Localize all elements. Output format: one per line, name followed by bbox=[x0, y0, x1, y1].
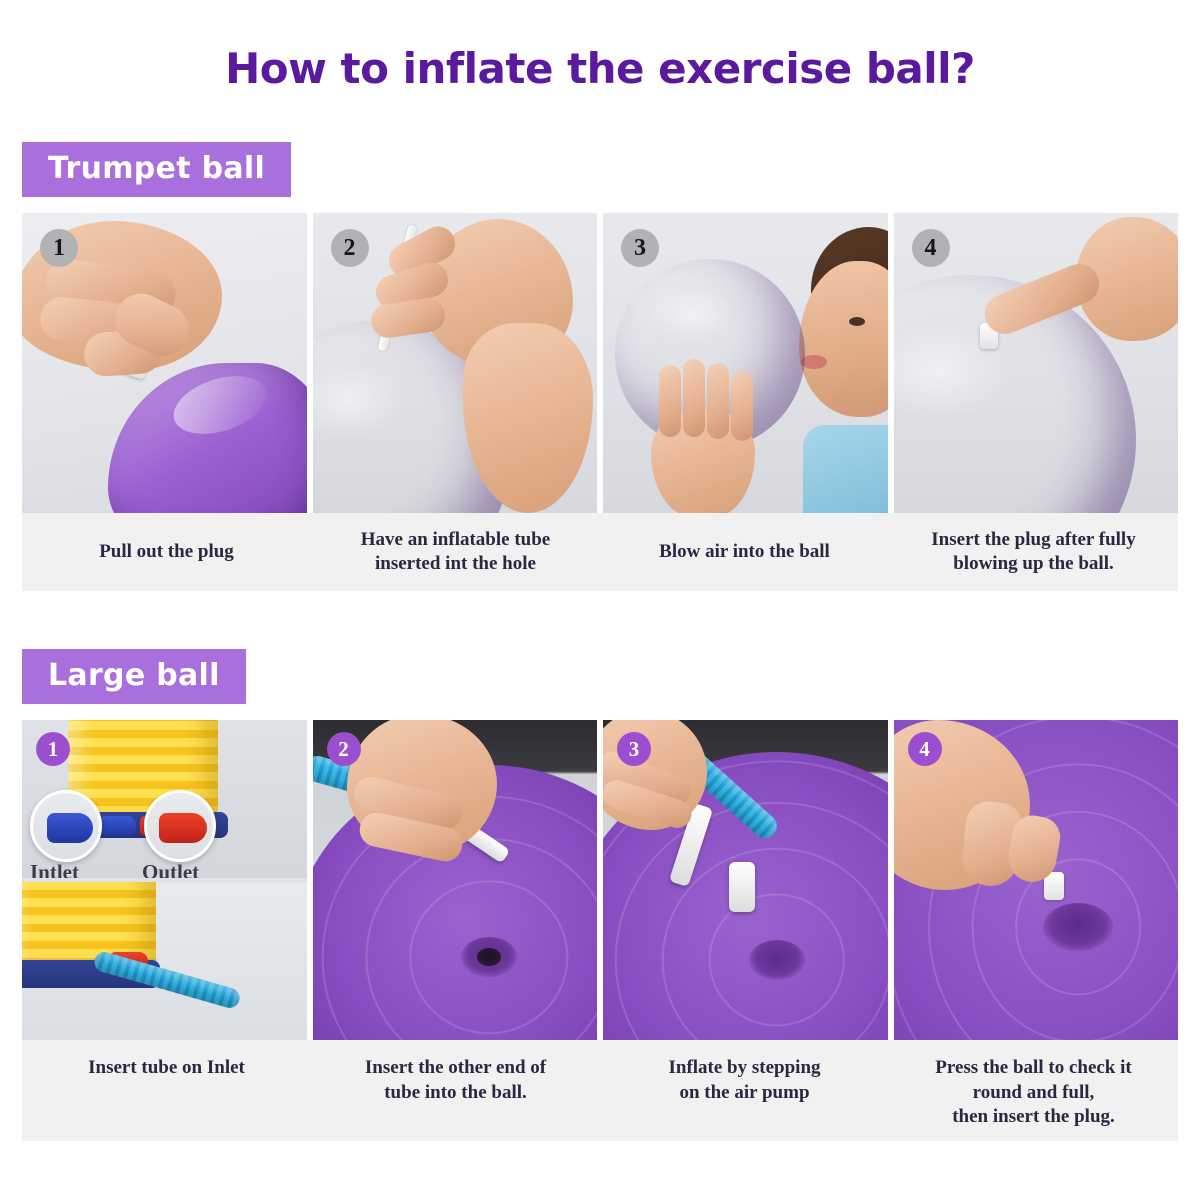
step-image-2-4: 4 bbox=[894, 720, 1179, 1040]
inlet-zoom-nipple bbox=[47, 813, 93, 843]
step-badge-1-1: 1 bbox=[40, 229, 78, 267]
step-image-1-3: 3 bbox=[603, 213, 888, 513]
finger-3 bbox=[707, 363, 729, 439]
section-banner-trumpet-ball: Trumpet ball bbox=[22, 142, 291, 197]
section-2-captions: Insert tube on Inlet Insert the other en… bbox=[22, 1040, 1178, 1141]
step-badge-2-2: 2 bbox=[327, 732, 361, 766]
step-caption-2-3: Inflate by stepping on the air pump bbox=[600, 1040, 889, 1141]
step-badge-1-2: 2 bbox=[331, 229, 369, 267]
step-caption-1-1: Pull out the plug bbox=[22, 513, 311, 591]
step-badge-2-3: 3 bbox=[617, 732, 651, 766]
section-banner-large-ball: Large ball bbox=[22, 649, 246, 704]
section-2-banner-wrap: Large ball bbox=[0, 649, 1200, 704]
inlet-nipple bbox=[100, 816, 136, 836]
step-badge-1-4: 4 bbox=[912, 229, 950, 267]
step-caption-2-4: Press the ball to check it round and ful… bbox=[889, 1040, 1178, 1141]
tank-top bbox=[803, 425, 888, 513]
section-1-panels: 1 2 bbox=[22, 213, 1178, 513]
step-image-2-1: Intlet Outlet 1 bbox=[22, 720, 307, 1040]
inlet-callout-circle bbox=[30, 790, 102, 862]
step-badge-1-3: 3 bbox=[621, 229, 659, 267]
white-nozzle bbox=[729, 862, 755, 912]
finger-4 bbox=[731, 371, 753, 441]
step-image-1-2: 2 bbox=[313, 213, 598, 513]
page-title: How to inflate the exercise ball? bbox=[0, 0, 1200, 92]
pump-tube-photo bbox=[22, 882, 307, 1040]
valve-hole bbox=[477, 948, 501, 966]
step-image-2-3: 3 bbox=[603, 720, 888, 1040]
outlet-callout-circle bbox=[144, 790, 216, 862]
outlet-zoom-nipple bbox=[159, 813, 207, 843]
outlet-label: Outlet bbox=[142, 860, 199, 878]
inlet-label: Intlet bbox=[30, 860, 79, 878]
step-image-1-4: 4 bbox=[894, 213, 1179, 513]
valve-dimple bbox=[749, 940, 805, 980]
step-image-2-2: 2 bbox=[313, 720, 598, 1040]
step-badge-2-1: 1 bbox=[36, 732, 70, 766]
section-2-panels: Intlet Outlet 1 bbox=[22, 720, 1178, 1040]
step-caption-2-1: Insert tube on Inlet bbox=[22, 1040, 311, 1141]
step-caption-1-4: Insert the plug after fully blowing up t… bbox=[889, 513, 1178, 591]
step-caption-1-3: Blow air into the ball bbox=[600, 513, 889, 591]
step-badge-2-4: 4 bbox=[908, 732, 942, 766]
step-image-1-1: 1 bbox=[22, 213, 307, 513]
valve-dimple bbox=[1043, 903, 1113, 951]
infographic-page: How to inflate the exercise ball? Trumpe… bbox=[0, 0, 1200, 1200]
section-1-captions: Pull out the plug Have an inflatable tub… bbox=[22, 513, 1178, 591]
finger-1 bbox=[659, 365, 681, 437]
step-caption-1-2: Have an inflatable tube inserted int the… bbox=[311, 513, 600, 591]
finger-2 bbox=[683, 359, 705, 437]
step-caption-2-2: Insert the other end of tube into the ba… bbox=[311, 1040, 600, 1141]
section-1-banner-wrap: Trumpet ball bbox=[0, 142, 1200, 197]
